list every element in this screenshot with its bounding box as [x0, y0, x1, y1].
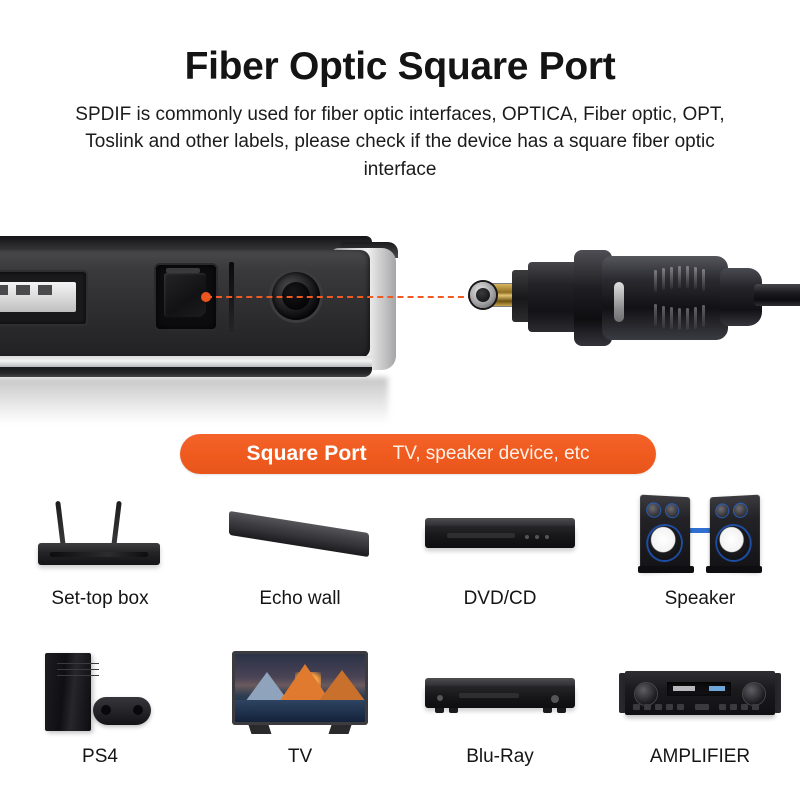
device-row-2: PS4: [0, 646, 800, 768]
device-base: [0, 367, 372, 377]
banner-description: TV, speaker device, etc: [393, 443, 590, 465]
device-cell-ps4: PS4: [0, 646, 200, 768]
device-cell-echo-wall: Echo wall: [200, 486, 400, 610]
banner-label: Square Port: [247, 442, 367, 466]
toslink-plug-photo: [462, 240, 800, 370]
blu-ray-player-icon: [410, 646, 590, 742]
plug-ferrule-core: [476, 288, 490, 302]
soundbar-icon: [210, 486, 390, 582]
square-port-banner: Square Port TV, speaker device, etc: [180, 434, 656, 474]
device-label: PS4: [82, 746, 118, 768]
device-cell-tv: TV: [200, 646, 400, 768]
dvd-player-icon: [410, 486, 590, 582]
optical-cable: [754, 284, 800, 306]
header: Fiber Optic Square Port SPDIF is commonl…: [0, 0, 800, 183]
page-title: Fiber Optic Square Port: [0, 0, 800, 89]
plug-ribs: [654, 264, 718, 332]
device-label: Speaker: [665, 588, 736, 610]
ps4-console-icon: [10, 646, 190, 742]
device-label: Blu-Ray: [466, 746, 534, 768]
device-label: AMPLIFIER: [650, 746, 750, 768]
device-cell-set-top-box: Set-top box: [0, 486, 200, 610]
device-cell-speaker: Speaker: [600, 486, 800, 610]
compatible-devices-grid: Set-top box Echo wall: [0, 486, 800, 768]
device-label: TV: [288, 746, 312, 768]
device-row-1: Set-top box Echo wall: [0, 486, 800, 610]
plug-grip: [602, 256, 728, 340]
device-label: Set-top box: [51, 588, 148, 610]
amplifier-icon: [610, 646, 790, 742]
device-cell-amplifier: AMPLIFIER: [600, 646, 800, 768]
device-label: Echo wall: [259, 588, 340, 610]
device-label: DVD/CD: [464, 588, 537, 610]
television-icon: [210, 646, 390, 742]
speakers-icon: [610, 486, 790, 582]
optical-port-shutter: [164, 273, 206, 317]
usb-tooth: [16, 285, 30, 295]
usb-tooth: [0, 285, 8, 295]
connection-dashed-line: [206, 296, 474, 298]
page-subtitle: SPDIF is commonly used for fiber optic i…: [55, 101, 745, 184]
infographic-page: Fiber Optic Square Port SPDIF is commonl…: [0, 0, 800, 800]
usb-port-icon: [0, 272, 86, 324]
device-cell-dvd-cd: DVD/CD: [400, 486, 600, 610]
set-top-box-icon: [10, 486, 190, 582]
device-shadow: [0, 377, 388, 423]
usb-tooth: [38, 285, 52, 295]
device-cell-blu-ray: Blu-Ray: [400, 646, 600, 768]
device-chrome-strip: [0, 356, 372, 367]
